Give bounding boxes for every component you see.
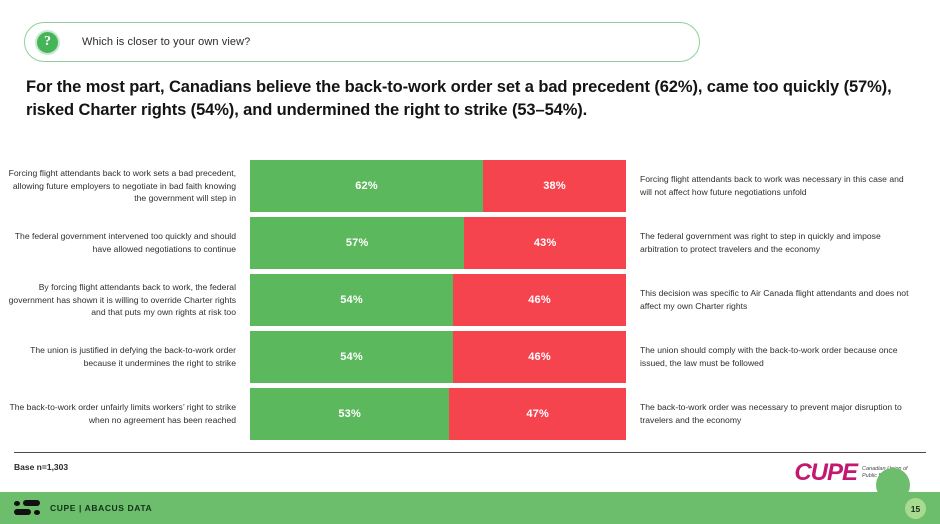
footer-bar: CUPE | ABACUS DATA 15 [0,492,940,524]
bar-segment-agree: 62% [250,160,483,212]
bar-segment-agree: 54% [250,331,453,383]
bar-track: 57%43% [250,217,626,269]
base-note: Base n=1,303 [14,462,68,472]
question-mark-circle-icon: ? [35,30,60,55]
chart-row: Forcing flight attendants back to work s… [0,160,940,212]
bar-segment-disagree: 43% [464,217,626,269]
row-label-right: The back-to-work order was necessary to … [626,401,916,427]
bar-track: 53%47% [250,388,626,440]
bar-segment-agree: 54% [250,274,453,326]
chart-row: The back-to-work order unfairly limits w… [0,388,940,440]
row-label-left: Forcing flight attendants back to work s… [0,167,250,206]
bar-segment-disagree: 38% [483,160,626,212]
bar-segment-disagree: 47% [449,388,626,440]
question-mark-glyph: ? [44,35,51,49]
slide: ? Which is closer to your own view? For … [0,0,940,524]
row-label-right: Forcing flight attendants back to work w… [626,173,916,199]
footer-divider [14,452,926,453]
bar-segment-agree: 57% [250,217,464,269]
chart-row: The federal government intervened too qu… [0,217,940,269]
question-banner-text: Which is closer to your own view? [82,36,250,48]
bar-segment-disagree: 46% [453,331,626,383]
bar-track: 54%46% [250,331,626,383]
bar-track: 62%38% [250,160,626,212]
row-label-left: By forcing flight attendants back to wor… [0,281,250,320]
page-number-badge: 15 [905,498,926,519]
diverging-bar-chart: Forcing flight attendants back to work s… [0,160,940,445]
bar-track: 54%46% [250,274,626,326]
bar-segment-disagree: 46% [453,274,626,326]
bar-segment-agree: 53% [250,388,449,440]
row-label-right: The union should comply with the back-to… [626,344,916,370]
row-label-left: The back-to-work order unfairly limits w… [0,401,250,427]
cupe-wordmark: CUPE [794,459,857,487]
row-label-left: The federal government intervened too qu… [0,230,250,256]
footer-label: CUPE | ABACUS DATA [50,503,152,513]
row-label-right: This decision was specific to Air Canada… [626,287,916,313]
row-label-left: The union is justified in defying the ba… [0,344,250,370]
chart-row: The union is justified in defying the ba… [0,331,940,383]
page-title: For the most part, Canadians believe the… [26,76,916,123]
question-banner: ? Which is closer to your own view? [24,22,700,62]
chart-row: By forcing flight attendants back to wor… [0,274,940,326]
abacus-logo-icon [14,500,40,516]
row-label-right: The federal government was right to step… [626,230,916,256]
